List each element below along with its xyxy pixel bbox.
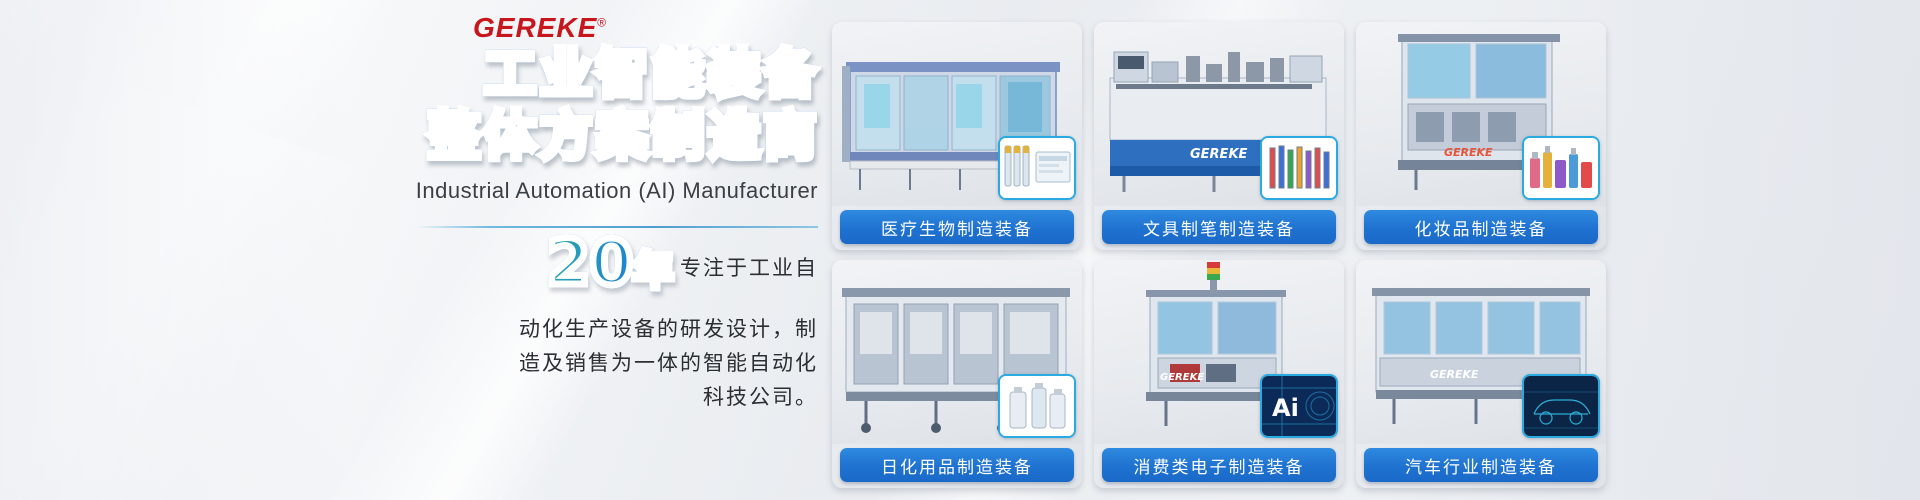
product-card-grid: 医疗生物制造装备 (832, 22, 1606, 488)
ai-chip-illustration: Ai (1262, 376, 1336, 436)
product-card[interactable]: 日化用品制造装备 (832, 260, 1082, 488)
svg-text:Ai: Ai (1272, 394, 1299, 422)
headline-line-1: 工业智能装备 (0, 46, 820, 104)
headline-line-2: 整体方案制造商 (0, 108, 820, 166)
car-illustration (1524, 376, 1598, 436)
pens-illustration (1262, 138, 1336, 198)
subtitle-english: Industrial Automation (AI) Manufacturer (416, 178, 818, 204)
product-card[interactable]: GEREKE 文具制笔制造装备 (1094, 22, 1344, 250)
promo-banner: GEREKE® 工业智能装备 整体方案制造商 Industrial Automa… (0, 0, 1920, 500)
body-line: 动化生产设备的研发设计，制 (398, 312, 818, 346)
tubes-bottles-inset-photo (998, 374, 1076, 438)
product-card[interactable]: 医疗生物制造装备 (832, 22, 1082, 250)
tubes-illustration (1000, 376, 1074, 436)
product-card-label: 汽车行业制造装备 (1364, 448, 1598, 482)
product-card[interactable]: GEREKE 汽车行业制造装备 (1356, 260, 1606, 488)
body-paragraph: 动化生产设备的研发设计，制 造及销售为一体的智能自动化 科技公司。 (398, 312, 818, 414)
product-card-label: 化妆品制造装备 (1364, 210, 1598, 244)
cosmetics-bottles-inset-photo (1522, 136, 1600, 200)
vaccine-vials-inset-photo (998, 136, 1076, 200)
headline-text: 工业智能装备 整体方案制造商 (0, 46, 820, 166)
svg-text:GEREKE: GEREKE (1190, 147, 1248, 162)
body-line: 科技公司。 (398, 380, 818, 414)
pens-inset-photo (1260, 136, 1338, 200)
ai-chip-inset-photo: Ai (1260, 374, 1338, 438)
brand-logo: GEREKE® (473, 12, 607, 44)
years-unit: 年 (633, 248, 674, 294)
years-value: 20 (547, 226, 633, 299)
brand-name: GEREKE (473, 12, 597, 43)
product-card-label: 日化用品制造装备 (840, 448, 1074, 482)
years-highlight-row: 20年专注于工业自 (348, 228, 818, 306)
product-card-label: 医疗生物制造装备 (840, 210, 1074, 244)
product-card-label: 文具制笔制造装备 (1102, 210, 1336, 244)
body-line: 造及销售为一体的智能自动化 (398, 346, 818, 380)
intro-tail-text: 专注于工业自 (680, 252, 818, 282)
svg-text:GEREKE: GEREKE (1160, 372, 1204, 383)
svg-text:GEREKE: GEREKE (1444, 146, 1493, 159)
svg-text:GEREKE: GEREKE (1430, 368, 1479, 381)
registered-trademark-icon: ® (597, 16, 607, 30)
car-tech-inset-photo (1522, 374, 1600, 438)
vials-illustration (1000, 138, 1074, 198)
years-number: 20年 (547, 228, 674, 306)
product-card-label: 消费类电子制造装备 (1102, 448, 1336, 482)
headline-block: GEREKE® 工业智能装备 整体方案制造商 Industrial Automa… (0, 0, 830, 500)
product-card[interactable]: GEREKE Ai 消费类电子制造装备 (1094, 260, 1344, 488)
product-card[interactable]: GEREKE 化妆品制造装备 (1356, 22, 1606, 250)
cosmetics-illustration (1524, 138, 1598, 198)
